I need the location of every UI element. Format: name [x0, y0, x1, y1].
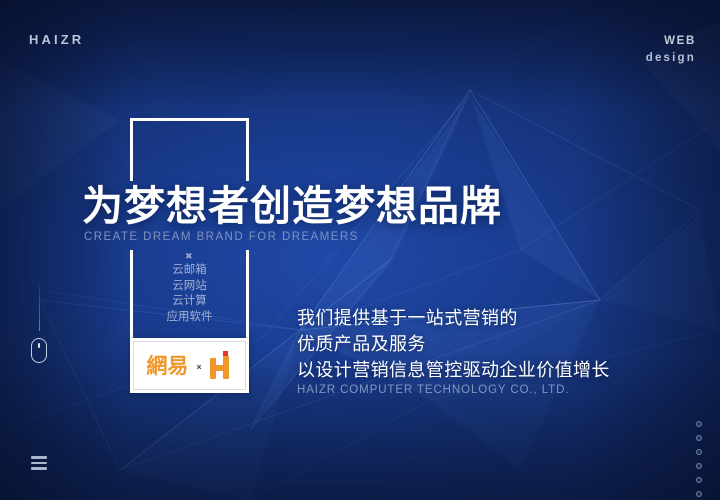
list-item[interactable]: 云网站 — [133, 279, 246, 295]
menu-hamburger-icon[interactable] — [31, 456, 47, 470]
page-title: 为梦想者创造梦想品牌 — [82, 183, 502, 229]
cloud-service-list: 云邮箱 云网站 云计算 应用软件 — [133, 263, 246, 325]
list-item[interactable]: 云计算 — [133, 294, 246, 310]
netease-logo: 網易 — [146, 355, 188, 377]
page-subtitle: CREATE DREAM BRAND FOR DREAMERS — [84, 231, 359, 243]
corner-tagline: WEB design — [646, 33, 696, 67]
pagination-dot[interactable] — [696, 463, 702, 469]
scroll-rail-line — [39, 283, 40, 331]
frame-top-edge — [130, 118, 249, 121]
frame-right-edge-upper — [246, 118, 249, 181]
brand-logo-text: HAIZR — [29, 32, 84, 47]
slide-canvas: HAIZR WEB design 为梦想者创造梦想品牌 CREATE DREAM… — [0, 0, 720, 500]
frame-right-edge-lower — [246, 250, 249, 338]
body-copy-line3: 以设计营销信息管控驱动企业价值增长 — [297, 357, 610, 383]
pagination-dot[interactable] — [696, 477, 702, 483]
cloud-cross-icon: ✖ — [185, 252, 193, 261]
haizr-h-mark-icon — [210, 352, 233, 379]
corner-tagline-line2: design — [646, 50, 696, 67]
h-stem-right — [223, 356, 229, 379]
body-copy-line2: 优质产品及服务 — [297, 331, 610, 357]
company-name-line: HAIZR COMPUTER TECHNOLOGY CO., LTD. — [297, 384, 569, 396]
logo-separator-x: × — [196, 362, 201, 372]
pagination-dot[interactable] — [696, 491, 702, 497]
background-vignette — [0, 0, 720, 500]
h-accent-dot — [223, 351, 228, 356]
hamburger-bar — [31, 462, 47, 465]
corner-tagline-line1: WEB — [646, 33, 696, 50]
frame-left-edge-upper — [130, 118, 133, 181]
pagination-dot[interactable] — [696, 449, 702, 455]
pagination-dot[interactable] — [696, 435, 702, 441]
body-copy: 我们提供基于一站式营销的 优质产品及服务 以设计营销信息管控驱动企业价值增长 — [297, 305, 610, 383]
partner-logo-inner: 網易 × — [133, 341, 246, 390]
slide-pagination[interactable] — [696, 421, 702, 497]
hamburger-bar — [31, 456, 47, 459]
hamburger-bar — [31, 467, 47, 470]
partner-logo-box: 網易 × — [130, 338, 249, 393]
pagination-dot[interactable] — [696, 421, 702, 427]
body-copy-line1: 我们提供基于一站式营销的 — [297, 305, 610, 331]
list-item[interactable]: 云邮箱 — [133, 263, 246, 279]
scroll-mouse-icon[interactable] — [31, 338, 47, 363]
list-item[interactable]: 应用软件 — [133, 310, 246, 326]
